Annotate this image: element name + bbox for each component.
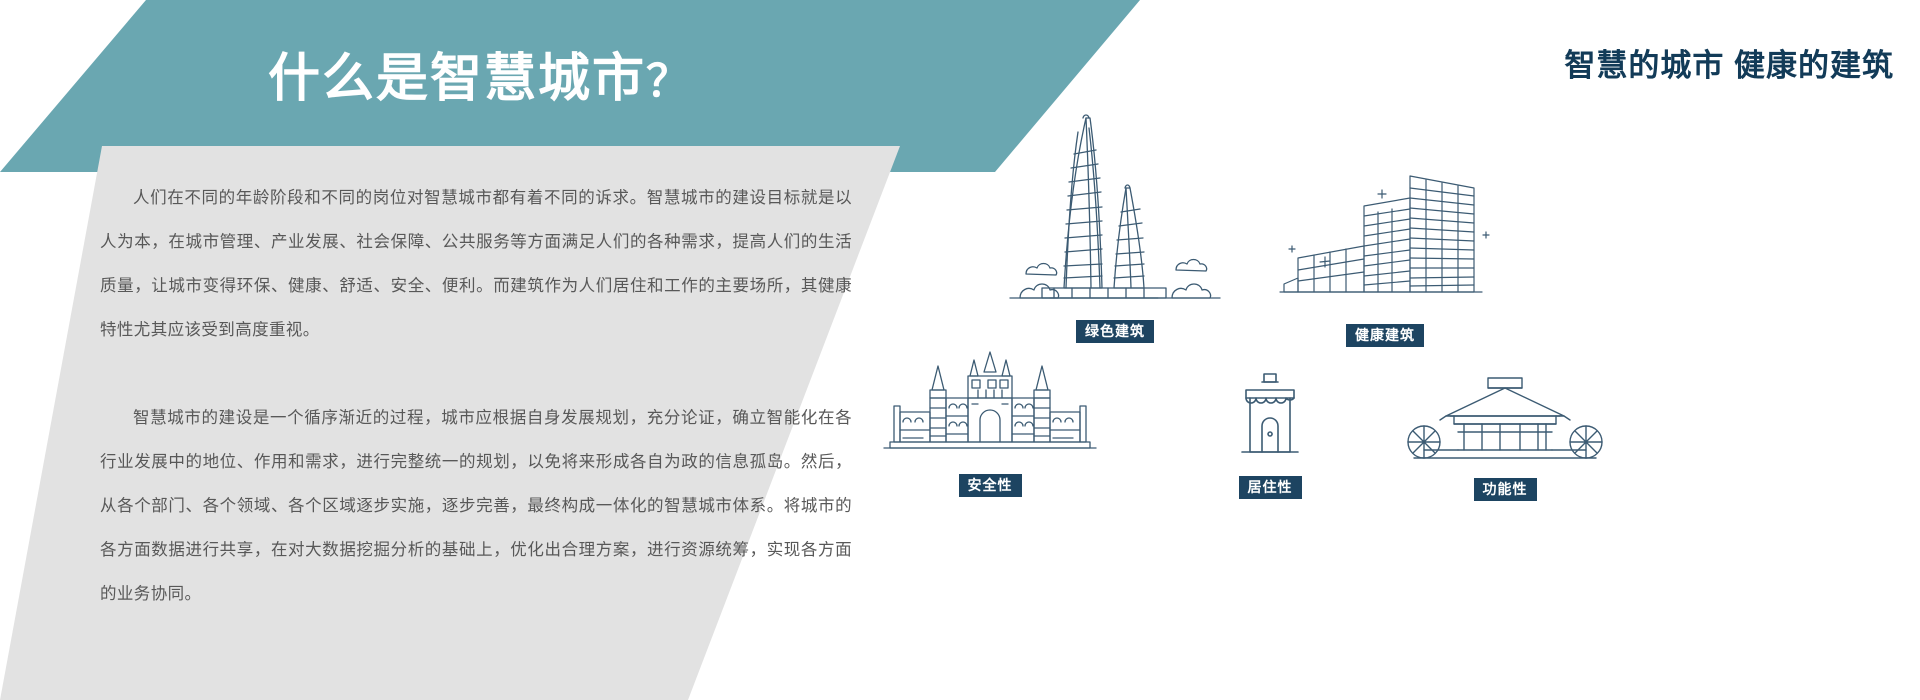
hospital-building-icon — [1260, 166, 1510, 316]
label-wrap-func: 功能性 — [1380, 478, 1630, 501]
page-title-text: 什么是智慧城市 — [268, 50, 646, 108]
body-copy: 人们在不同的年龄阶段和不同的岗位对智慧城市都有着不同的诉求。智慧城市的建设目标就… — [100, 176, 852, 616]
label-wrap-green: 绿色建筑 — [990, 320, 1240, 343]
twisted-towers-icon — [990, 102, 1240, 312]
illustration-group: 绿色建筑 健康建筑 — [840, 96, 1920, 700]
paragraph-1: 人们在不同的年龄阶段和不同的岗位对智慧城市都有着不同的诉求。智慧城市的建设目标就… — [100, 176, 852, 352]
illustration-item-green: 绿色建筑 — [990, 102, 1240, 343]
label-wrap-live: 居住性 — [1160, 476, 1380, 499]
house-shop-icon — [1160, 368, 1380, 468]
label-wrap-health: 健康建筑 — [1260, 324, 1510, 347]
illustration-item-health: 健康建筑 — [1260, 166, 1510, 347]
page-title-question-mark: ？ — [646, 57, 692, 106]
page-title: 什么是智慧城市？ — [268, 36, 692, 111]
pavilion-icon — [1380, 370, 1630, 470]
illustration-label-green: 绿色建筑 — [1076, 320, 1154, 343]
illustration-label-health: 健康建筑 — [1346, 324, 1424, 347]
paragraph-2: 智慧城市的建设是一个循序渐近的过程，城市应根据自身发展规划，充分论证，确立智能化… — [100, 396, 852, 616]
illustration-label-func: 功能性 — [1474, 478, 1537, 501]
illustration-label-safety: 安全性 — [959, 474, 1022, 497]
illustration-item-func: 功能性 — [1380, 370, 1630, 501]
castle-icon — [840, 346, 1140, 466]
label-wrap-safety: 安全性 — [840, 474, 1140, 497]
illustration-item-live: 居住性 — [1160, 368, 1380, 499]
illustration-label-live: 居住性 — [1239, 476, 1302, 499]
illustration-item-safety: 安全性 — [840, 346, 1140, 497]
headline: 智慧的城市 健康的建筑 — [1564, 40, 1894, 85]
